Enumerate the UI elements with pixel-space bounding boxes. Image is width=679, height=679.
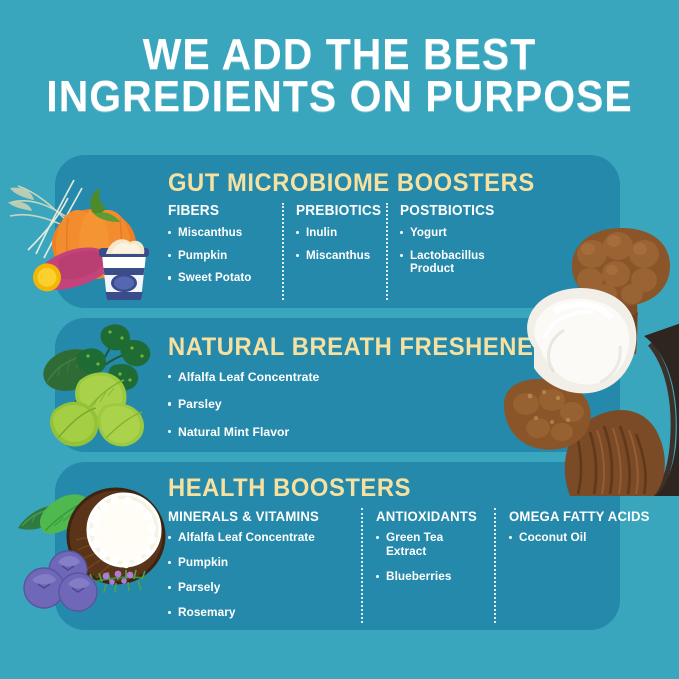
list-item: Pumpkin <box>168 556 351 570</box>
list-item: Blueberries <box>376 570 486 584</box>
card-natural-breath-fresheners: NATURAL BREATH FRESHENERS Alfalfa Leaf C… <box>55 318 620 452</box>
card-health-boosters: HEALTH BOOSTERS MINERALS & VITAMINS Alfa… <box>55 462 620 630</box>
column-fibers: FIBERS Miscanthus Pumpkin Sweet Potato <box>168 203 282 294</box>
list-item: Green Tea Extract <box>376 531 486 559</box>
column-antioxidants: ANTIOXIDANTS Green Tea Extract Blueberri… <box>361 508 494 623</box>
column-omega-fatty-acids: OMEGA FATTY ACIDS Coconut Oil <box>494 508 669 623</box>
list-item: Pumpkin <box>168 249 272 263</box>
list-item: Natural Mint Flavor <box>168 425 548 439</box>
card-columns: MINERALS & VITAMINS Alfalfa Leaf Concent… <box>168 508 614 631</box>
list-item: Coconut Oil <box>509 531 669 545</box>
column-header: ANTIOXIDANTS <box>376 508 479 524</box>
list-item: Miscanthus <box>168 226 272 240</box>
list-item: Rosemary <box>168 606 351 620</box>
ingredient-list: Inulin Miscanthus <box>296 226 378 262</box>
list-item: Parsely <box>168 581 351 595</box>
column-postbiotics: POSTBIOTICS Yogurt Lactobacillus Product <box>386 203 525 300</box>
list-item: Miscanthus <box>296 249 378 263</box>
column-header: PREBIOTICS <box>296 203 373 219</box>
ingredient-list: Alfalfa Leaf Concentrate Parsley Natural… <box>168 370 548 439</box>
list-item: Sweet Potato <box>168 271 272 285</box>
card-heading: HEALTH BOOSTERS <box>168 474 411 503</box>
list-item: Parsley <box>168 397 548 411</box>
column-minerals-vitamins: MINERALS & VITAMINS Alfalfa Leaf Concent… <box>168 508 361 631</box>
card-gut-microbiome-boosters: GUT MICROBIOME BOOSTERS FIBERS Miscanthu… <box>55 155 620 308</box>
card-columns: FIBERS Miscanthus Pumpkin Sweet Potato P… <box>168 203 610 300</box>
ingredient-list: Yogurt Lactobacillus Product <box>400 226 525 276</box>
card-columns: Alfalfa Leaf Concentrate Parsley Natural… <box>168 370 610 452</box>
page-title: WE ADD THE BEST INGREDIENTS ON PURPOSE <box>0 34 679 118</box>
card-heading: NATURAL BREATH FRESHENERS <box>168 333 568 362</box>
title-line-1: WE ADD THE BEST <box>24 34 655 76</box>
ingredient-list: Miscanthus Pumpkin Sweet Potato <box>168 226 272 285</box>
infographic-poster: WE ADD THE BEST INGREDIENTS ON PURPOSE G… <box>0 0 679 679</box>
list-item: Inulin <box>296 226 378 240</box>
column-breath-ingredients: Alfalfa Leaf Concentrate Parsley Natural… <box>168 370 548 452</box>
list-item: Alfalfa Leaf Concentrate <box>168 370 548 384</box>
ingredient-list: Coconut Oil <box>509 531 669 545</box>
ingredient-list: Alfalfa Leaf Concentrate Pumpkin Parsely… <box>168 531 351 620</box>
list-item: Yogurt <box>400 226 525 240</box>
column-header: FIBERS <box>168 203 266 219</box>
list-item: Alfalfa Leaf Concentrate <box>168 531 351 545</box>
title-line-2: INGREDIENTS ON PURPOSE <box>24 76 655 118</box>
list-item: Lactobacillus Product <box>400 249 525 276</box>
column-header: POSTBIOTICS <box>400 203 518 219</box>
column-header: OMEGA FATTY ACIDS <box>509 508 659 524</box>
card-heading: GUT MICROBIOME BOOSTERS <box>168 169 535 198</box>
ingredient-list: Green Tea Extract Blueberries <box>376 531 486 584</box>
column-header: MINERALS & VITAMINS <box>168 508 340 524</box>
column-prebiotics: PREBIOTICS Inulin Miscanthus <box>282 203 386 300</box>
